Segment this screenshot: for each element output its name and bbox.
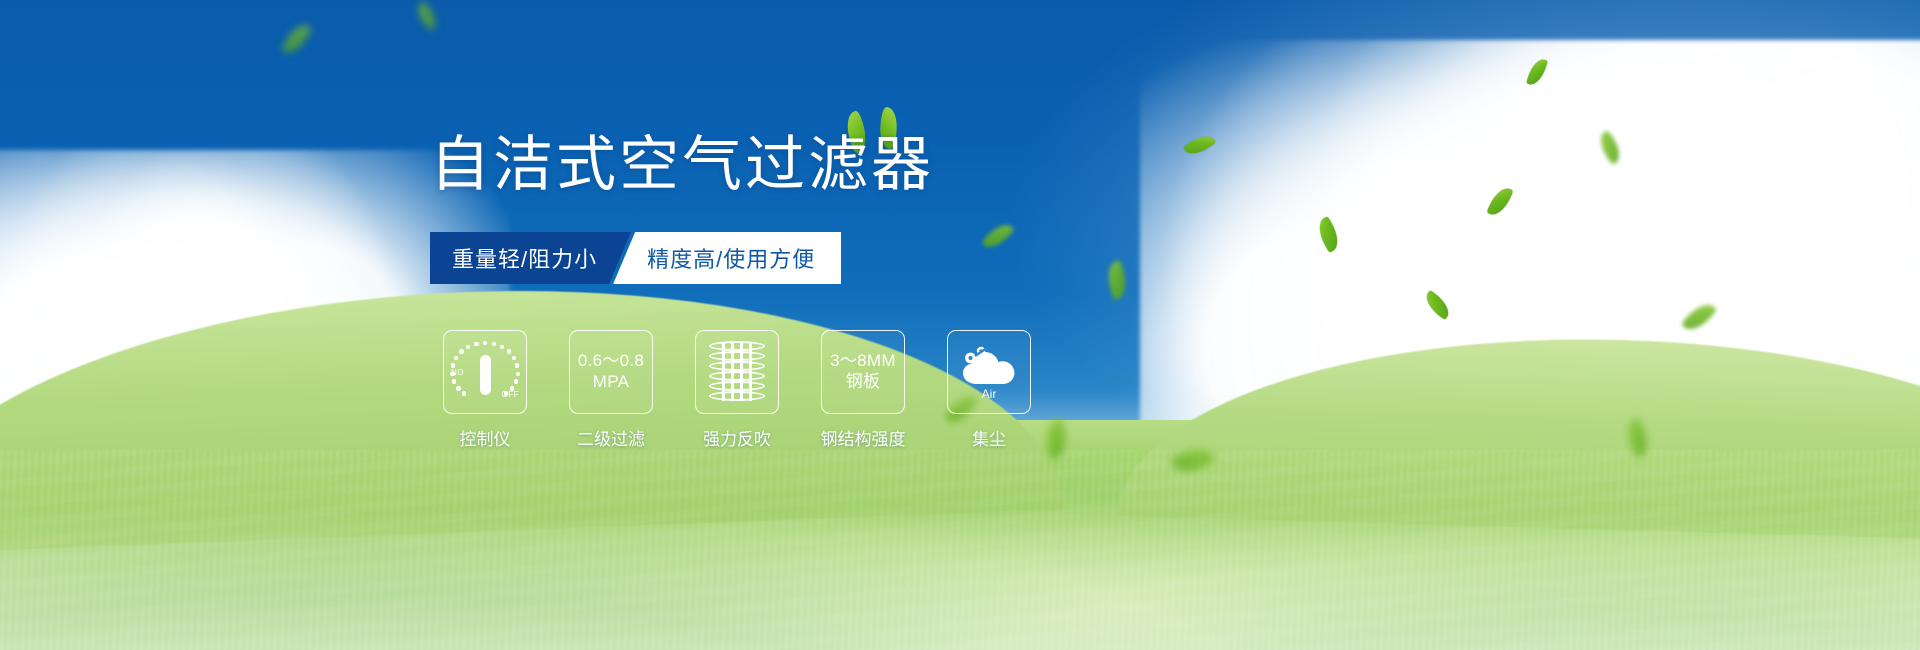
feature-dust-collection: Air 集尘 — [942, 330, 1036, 450]
filter-cartridge-icon — [709, 341, 765, 403]
feature-controller-label: 控制仪 — [460, 425, 511, 450]
feature-backblow: 强力反吹 — [690, 330, 784, 450]
air-label: Air — [957, 387, 1021, 401]
pressure-line-2: MPA — [578, 372, 644, 393]
pressure-text-icon: 0.6～0.8 MPA — [578, 351, 644, 392]
feature-backblow-box — [695, 330, 779, 414]
feature-dust-collection-label: 集尘 — [972, 425, 1006, 450]
badge-precision-convenience: 精度高/使用方便 — [613, 232, 841, 284]
feature-two-stage-filter-label: 二级过滤 — [577, 425, 645, 450]
feature-dust-collection-box: Air — [947, 330, 1031, 414]
feature-controller-box: NO OFF — [443, 330, 527, 414]
tagline-badges: 重量轻/阻力小 精度高/使用方便 — [430, 232, 841, 284]
feature-steel-strength-label: 钢结构强度 — [821, 425, 906, 450]
banner-content: 自洁式空气过滤器 重量轻/阻力小 精度高/使用方便 — [0, 0, 1920, 650]
feature-steel-strength: 3～8MM 钢板 钢结构强度 — [816, 330, 910, 450]
dial-needle — [480, 355, 491, 395]
feature-controller: NO OFF 控制仪 — [438, 330, 532, 450]
steel-line-2: 钢板 — [830, 372, 896, 393]
feature-two-stage-filter: 0.6～0.8 MPA 二级过滤 — [564, 330, 658, 450]
control-dial-icon: NO OFF — [452, 341, 518, 403]
dial-off-label: OFF — [502, 390, 520, 399]
page-title: 自洁式空气过滤器 — [430, 135, 934, 195]
steel-plate-text-icon: 3～8MM 钢板 — [830, 351, 896, 392]
feature-steel-strength-box: 3～8MM 钢板 — [821, 330, 905, 414]
air-cloud-icon: Air — [957, 344, 1021, 400]
pressure-line-1: 0.6～0.8 — [578, 351, 644, 372]
feature-backblow-label: 强力反吹 — [703, 425, 771, 450]
feature-two-stage-filter-box: 0.6～0.8 MPA — [569, 330, 653, 414]
feature-icon-row: NO OFF 控制仪 0.6～0.8 MPA 二级过滤 — [438, 330, 1036, 450]
steel-line-1: 3～8MM — [830, 351, 896, 372]
badge-weight-resistance: 重量轻/阻力小 — [430, 232, 631, 284]
dial-on-label: NO — [451, 368, 464, 377]
product-hero-banner: 自洁式空气过滤器 重量轻/阻力小 精度高/使用方便 — [0, 0, 1920, 650]
air-cloud-glyph — [957, 344, 1021, 388]
